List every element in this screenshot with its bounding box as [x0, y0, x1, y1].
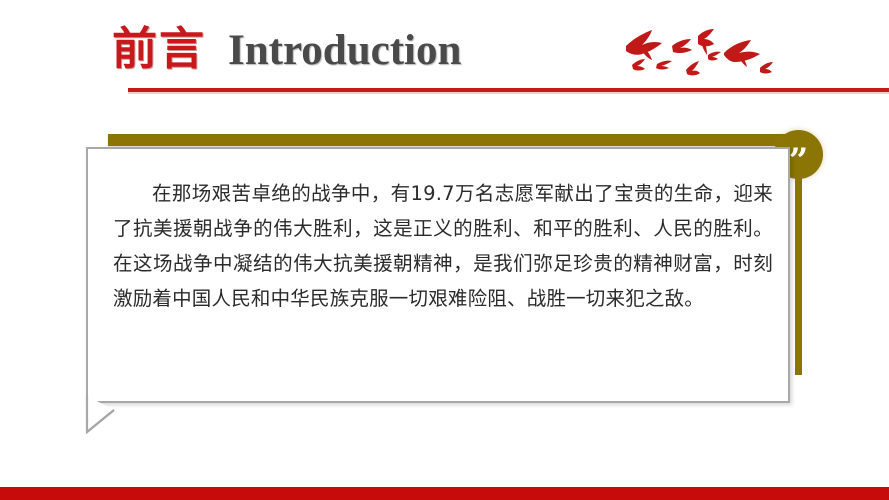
page-title-chinese: 前言 — [112, 26, 206, 71]
quote-callout: ” 在那场艰苦卓绝的战争中，有19.7万名志愿军献出了宝贵的生命，迎来了抗美援朝… — [60, 120, 850, 440]
quotation-mark-icon: ” — [789, 144, 809, 178]
gold-top-accent-bar — [108, 134, 802, 146]
flying-birds-icon — [612, 18, 792, 82]
slide-canvas: 前言 Introduction — [0, 0, 889, 500]
footer-accent-bar — [0, 487, 889, 500]
quote-body-text: 在那场艰苦卓绝的战争中，有19.7万名志愿军献出了宝贵的生命，迎来了抗美援朝战争… — [113, 176, 773, 316]
header-divider-shadow — [128, 92, 889, 94]
page-title-english: Introduction — [228, 29, 461, 72]
page-title: 前言 Introduction — [112, 26, 461, 82]
speech-bubble-tail — [84, 396, 144, 436]
